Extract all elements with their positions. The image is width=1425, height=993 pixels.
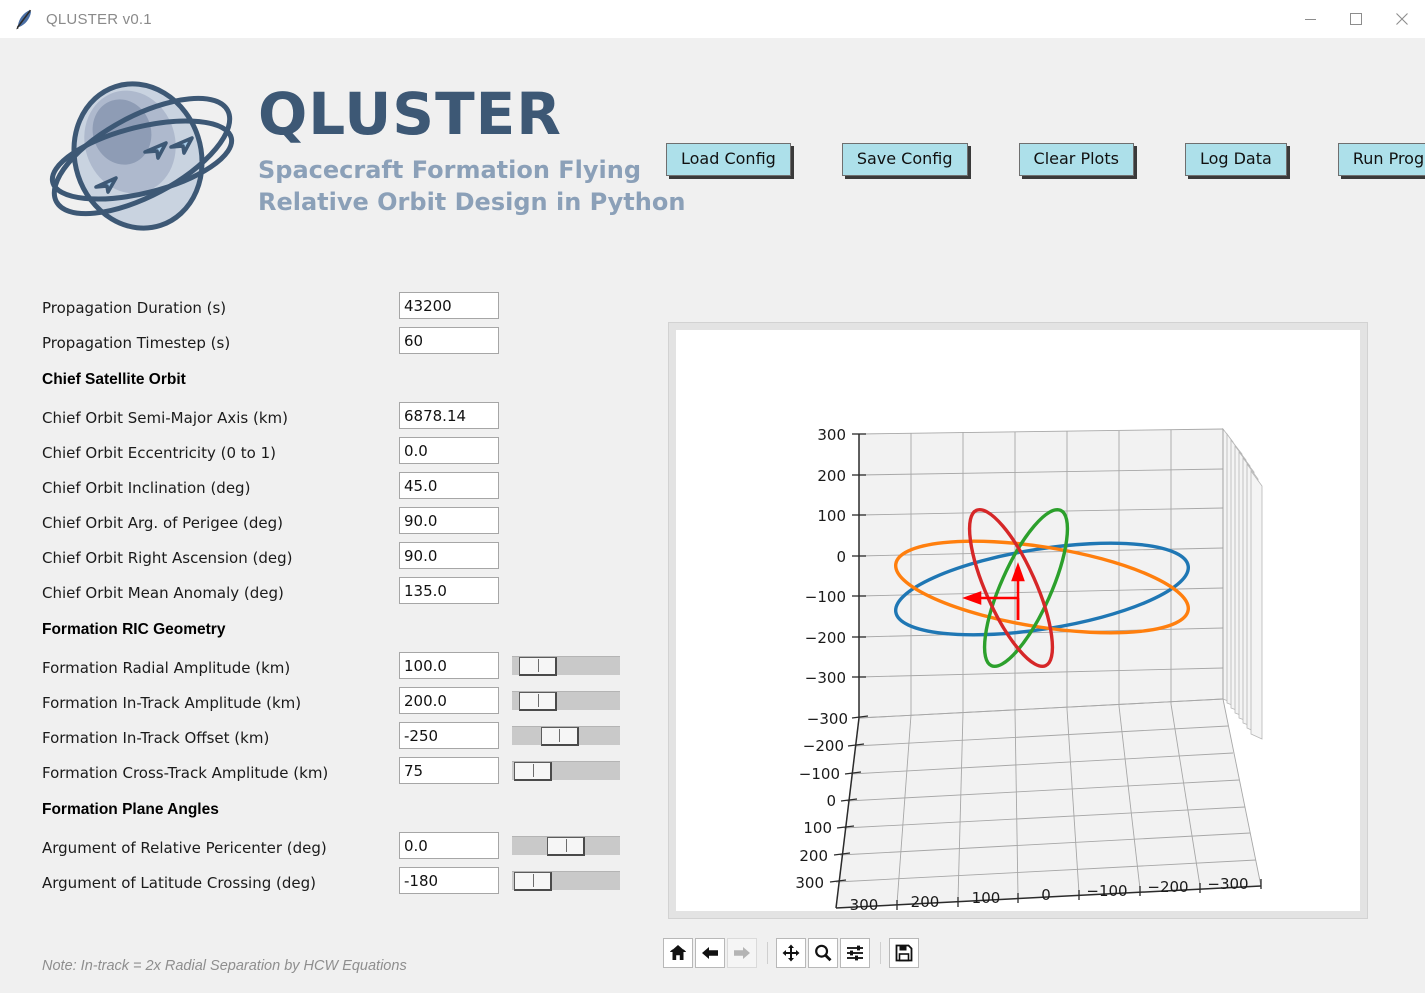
- move-icon: [782, 944, 800, 962]
- svg-text:−200: −200: [803, 737, 844, 755]
- formation-cross-track-amplitude-input[interactable]: [399, 757, 499, 784]
- field-row-formation-in-track-offset: Formation In-Track Offset (km): [42, 720, 642, 755]
- chief-inclination-label: Chief Orbit Inclination (deg): [42, 479, 402, 497]
- svg-text:0: 0: [836, 548, 846, 566]
- argument-latitude-crossing-slider[interactable]: [512, 871, 620, 890]
- toolbar-separator: [767, 942, 768, 964]
- close-icon: [1396, 13, 1408, 25]
- field-row-chief-eccentricity: Chief Orbit Eccentricity (0 to 1): [42, 435, 642, 470]
- minimize-button[interactable]: [1287, 0, 1333, 38]
- window-controls: [1287, 0, 1425, 38]
- chief-semi-major-axis-input[interactable]: [399, 402, 499, 429]
- field-row-chief-arg-perigee: Chief Orbit Arg. of Perigee (deg): [42, 505, 642, 540]
- svg-text:−300: −300: [1207, 875, 1248, 893]
- matplotlib-navigation-toolbar: [663, 938, 921, 968]
- matplotlib-canvas[interactable]: 300 200 100 0 −100 −200 −300: [676, 330, 1360, 911]
- feather-icon: [14, 8, 34, 30]
- brand-subtitle-line-2: Relative Orbit Design in Python: [258, 187, 685, 219]
- svg-text:−300: −300: [805, 669, 846, 687]
- run-program-button[interactable]: Run Program: [1338, 143, 1425, 176]
- sliders-icon: [846, 944, 864, 962]
- arrow-left-icon: [701, 944, 719, 962]
- field-row-chief-mean-anomaly: Chief Orbit Mean Anomaly (deg): [42, 575, 642, 610]
- argument-relative-pericenter-label: Argument of Relative Pericenter (deg): [42, 839, 402, 857]
- save-config-button[interactable]: Save Config: [842, 143, 968, 176]
- save-figure-button[interactable]: [889, 938, 919, 968]
- chief-inclination-input[interactable]: [399, 472, 499, 499]
- pan-button[interactable]: [776, 938, 806, 968]
- formation-radial-amplitude-input[interactable]: [399, 652, 499, 679]
- maximize-button[interactable]: [1333, 0, 1379, 38]
- slider-thumb[interactable]: [519, 692, 557, 711]
- field-row-argument-relative-pericenter: Argument of Relative Pericenter (deg): [42, 830, 642, 865]
- svg-text:0: 0: [826, 792, 836, 810]
- minimize-icon: [1305, 19, 1316, 20]
- hcw-note: Note: In-track = 2x Radial Separation by…: [42, 958, 407, 974]
- chief-right-ascension-label: Chief Orbit Right Ascension (deg): [42, 549, 402, 567]
- chief-mean-anomaly-label: Chief Orbit Mean Anomaly (deg): [42, 584, 402, 602]
- svg-text:200: 200: [799, 847, 828, 865]
- slider-thumb[interactable]: [541, 727, 579, 746]
- formation-cross-track-amplitude-label: Formation Cross-Track Amplitude (km): [42, 764, 402, 782]
- log-data-button[interactable]: Log Data: [1185, 143, 1287, 176]
- propagation-duration-input[interactable]: [399, 292, 499, 319]
- slider-thumb[interactable]: [514, 762, 552, 781]
- section-heading-formation-plane-angles: Formation Plane Angles: [42, 790, 642, 830]
- svg-text:100: 100: [803, 819, 832, 837]
- formation-radial-amplitude-label: Formation Radial Amplitude (km): [42, 659, 402, 677]
- qluster-logo: [38, 60, 248, 250]
- svg-text:100: 100: [972, 889, 1001, 907]
- action-button-bar: Load Config Save Config Clear Plots Log …: [666, 143, 1425, 176]
- svg-text:100: 100: [817, 507, 846, 525]
- floppy-disk-icon: [895, 944, 913, 962]
- clear-plots-button[interactable]: Clear Plots: [1019, 143, 1134, 176]
- brand-block: QLUSTER Spacecraft Formation Flying Rela…: [258, 85, 685, 218]
- field-row-formation-cross-track-amplitude: Formation Cross-Track Amplitude (km): [42, 755, 642, 790]
- formation-in-track-offset-input[interactable]: [399, 722, 499, 749]
- chief-arg-perigee-label: Chief Orbit Arg. of Perigee (deg): [42, 514, 402, 532]
- plot-frame: 300 200 100 0 −100 −200 −300: [668, 322, 1368, 919]
- svg-text:300: 300: [817, 426, 846, 444]
- field-row-argument-latitude-crossing: Argument of Latitude Crossing (deg): [42, 865, 642, 900]
- svg-text:200: 200: [911, 893, 940, 911]
- load-config-button[interactable]: Load Config: [666, 143, 791, 176]
- window-title-bar: QLUSTER v0.1: [0, 0, 1425, 38]
- svg-text:200: 200: [817, 467, 846, 485]
- svg-text:−100: −100: [799, 765, 840, 783]
- formation-in-track-amplitude-label: Formation In-Track Amplitude (km): [42, 694, 402, 712]
- maximize-icon: [1350, 13, 1362, 25]
- formation-radial-amplitude-slider[interactable]: [512, 656, 620, 675]
- zoom-button[interactable]: [808, 938, 838, 968]
- svg-text:−100: −100: [805, 588, 846, 606]
- svg-text:−100: −100: [1086, 882, 1127, 900]
- field-row-propagation-duration: Propagation Duration (s): [42, 290, 642, 325]
- field-row-chief-right-ascension: Chief Orbit Right Ascension (deg): [42, 540, 642, 575]
- formation-in-track-amplitude-slider[interactable]: [512, 691, 620, 710]
- close-button[interactable]: [1379, 0, 1425, 38]
- chief-right-ascension-input[interactable]: [399, 542, 499, 569]
- slider-thumb[interactable]: [514, 872, 552, 891]
- home-icon: [669, 944, 687, 962]
- section-heading-chief-satellite-orbit: Chief Satellite Orbit: [42, 360, 642, 400]
- argument-relative-pericenter-slider[interactable]: [512, 836, 620, 855]
- arrow-right-icon: [733, 944, 751, 962]
- propagation-timestep-input[interactable]: [399, 327, 499, 354]
- argument-relative-pericenter-input[interactable]: [399, 832, 499, 859]
- field-row-formation-radial-amplitude: Formation Radial Amplitude (km): [42, 650, 642, 685]
- home-button[interactable]: [663, 938, 693, 968]
- formation-in-track-offset-label: Formation In-Track Offset (km): [42, 729, 402, 747]
- svg-text:−200: −200: [1147, 878, 1188, 896]
- svg-text:300: 300: [850, 896, 879, 911]
- brand-subtitle-line-1: Spacecraft Formation Flying: [258, 155, 685, 187]
- svg-text:−200: −200: [805, 629, 846, 647]
- svg-text:300: 300: [795, 874, 824, 892]
- field-row-formation-in-track-amplitude: Formation In-Track Amplitude (km): [42, 685, 642, 720]
- propagation-timestep-label: Propagation Timestep (s): [42, 334, 402, 352]
- formation-in-track-amplitude-input[interactable]: [399, 687, 499, 714]
- chief-mean-anomaly-input[interactable]: [399, 577, 499, 604]
- formation-in-track-offset-slider[interactable]: [512, 726, 620, 745]
- slider-thumb[interactable]: [547, 837, 585, 856]
- page-title: QLUSTER: [258, 85, 685, 143]
- chief-eccentricity-input[interactable]: [399, 437, 499, 464]
- back-button[interactable]: [695, 938, 725, 968]
- window-title: QLUSTER v0.1: [46, 11, 152, 28]
- chief-semi-major-axis-label: Chief Orbit Semi-Major Axis (km): [42, 409, 402, 427]
- relative-orbit-3d-plot: 300 200 100 0 −100 −200 −300: [676, 330, 1360, 911]
- section-heading-formation-ric-geometry: Formation RIC Geometry: [42, 610, 642, 650]
- parameter-form: Propagation Duration (s) Propagation Tim…: [42, 290, 642, 900]
- slider-thumb[interactable]: [519, 657, 557, 676]
- toolbar-separator: [880, 942, 881, 964]
- argument-latitude-crossing-label: Argument of Latitude Crossing (deg): [42, 874, 402, 892]
- svg-text:0: 0: [1041, 886, 1051, 904]
- forward-button[interactable]: [727, 938, 757, 968]
- magnifier-icon: [814, 944, 832, 962]
- chief-eccentricity-label: Chief Orbit Eccentricity (0 to 1): [42, 444, 402, 462]
- qluster-application-window: QLUSTER v0.1: [0, 0, 1425, 993]
- chief-arg-perigee-input[interactable]: [399, 507, 499, 534]
- svg-text:−300: −300: [807, 710, 848, 728]
- orbit-planet-icon: [38, 60, 248, 250]
- field-row-chief-inclination: Chief Orbit Inclination (deg): [42, 470, 642, 505]
- configure-subplots-button[interactable]: [840, 938, 870, 968]
- field-row-propagation-timestep: Propagation Timestep (s): [42, 325, 642, 360]
- formation-cross-track-amplitude-slider[interactable]: [512, 761, 620, 780]
- argument-latitude-crossing-input[interactable]: [399, 867, 499, 894]
- propagation-duration-label: Propagation Duration (s): [42, 299, 402, 317]
- field-row-chief-semi-major-axis: Chief Orbit Semi-Major Axis (km): [42, 400, 642, 435]
